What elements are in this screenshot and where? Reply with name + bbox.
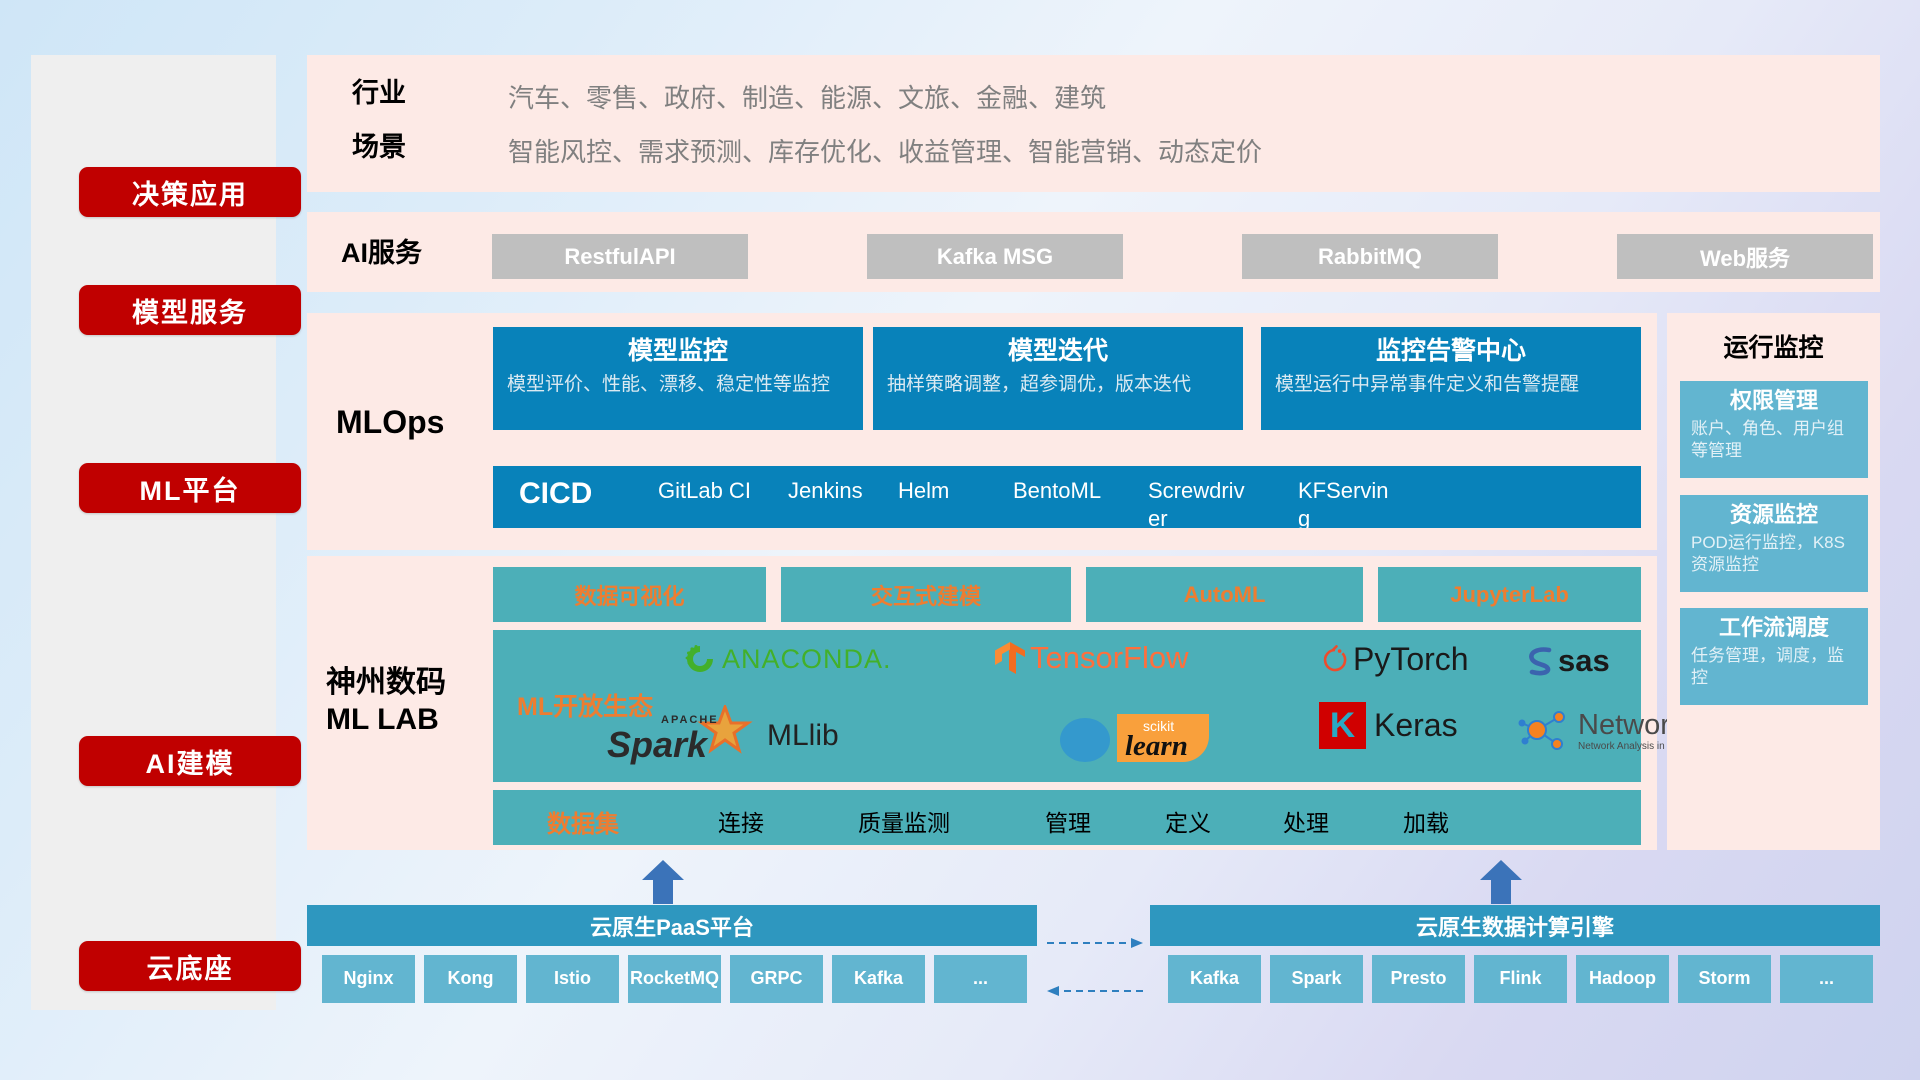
tile-interactive-modeling[interactable]: 交互式建模 — [781, 567, 1071, 622]
paas-title: 云原生PaaS平台 — [590, 910, 754, 942]
chip-label: GRPC — [750, 969, 802, 989]
chip-label: Kafka — [854, 969, 903, 989]
chip-label: ... — [973, 969, 988, 989]
keras-wordmark: Keras — [1374, 707, 1458, 744]
industry-label: 行业 — [352, 78, 406, 109]
chip-label: Storm — [1698, 969, 1750, 989]
sas-wordmark: sas — [1558, 643, 1610, 679]
scene-label: 场景 — [352, 132, 406, 163]
card-desc: 模型评价、性能、漂移、稳定性等监控 — [507, 372, 849, 397]
modeling-tile-row: 数据可视化 交互式建模 AutoML JupyterLab — [493, 567, 1641, 622]
run-monitor-panel: 运行监控 权限管理 账户、角色、用户组等管理 资源监控 POD运行监控，K8S资… — [1667, 313, 1880, 850]
paas-chip-more[interactable]: ... — [934, 955, 1027, 1003]
monitor-card-permission[interactable]: 权限管理 账户、角色、用户组等管理 — [1680, 381, 1868, 478]
chip-label: Kong — [448, 969, 494, 989]
service-chip-web-service[interactable]: Web服务 — [1617, 234, 1873, 279]
ml-lab-line2: ML LAB — [326, 702, 446, 739]
paas-chip-kafka[interactable]: Kafka — [832, 955, 925, 1003]
chip-label: Istio — [554, 969, 591, 989]
scene-value: 智能风控、需求预测、库存优化、收益管理、智能营销、动态定价 — [508, 132, 1262, 169]
tile-label: 交互式建模 — [871, 579, 981, 611]
engine-chip-storm[interactable]: Storm — [1678, 955, 1771, 1003]
monitor-card-workflow[interactable]: 工作流调度 任务管理，调度，监控 — [1680, 608, 1868, 705]
paas-chip-nginx[interactable]: Nginx — [322, 955, 415, 1003]
arrow-up-engine-icon — [1478, 858, 1524, 904]
dataset-item-manage[interactable]: 管理 — [1045, 804, 1091, 838]
paas-chip-istio[interactable]: Istio — [526, 955, 619, 1003]
engine-chip-spark[interactable]: Spark — [1270, 955, 1363, 1003]
spark-icon: APACHE Spark — [603, 705, 763, 767]
rail-item-cloud-base[interactable]: 云底座 — [79, 941, 301, 991]
chip-label: Web服务 — [1700, 241, 1790, 273]
dataset-bar: 数据集 连接 质量监测 管理 定义 处理 加载 — [493, 790, 1641, 845]
run-monitor-title: 运行监控 — [1667, 328, 1880, 364]
industry-value: 汽车、零售、政府、制造、能源、文旅、金融、建筑 — [508, 78, 1106, 115]
left-rail: 决策应用 模型服务 ML平台 AI建模 — [31, 55, 276, 1010]
chip-label: Kafka — [1190, 969, 1239, 989]
chip-label: Hadoop — [1589, 969, 1656, 989]
card-title: 资源监控 — [1691, 502, 1857, 528]
card-title: 工作流调度 — [1691, 615, 1857, 641]
pytorch-wordmark: PyTorch — [1353, 641, 1469, 678]
mllib-wordmark: MLlib — [767, 719, 839, 753]
dataset-item-connect[interactable]: 连接 — [718, 804, 764, 838]
tile-jupyterlab[interactable]: JupyterLab — [1378, 567, 1641, 622]
cicd-title: CICD — [519, 477, 592, 511]
mlops-label: MLOps — [336, 404, 444, 441]
rail-label: ML平台 — [140, 469, 241, 508]
sas-icon — [1523, 646, 1557, 676]
engine-chip-presto[interactable]: Presto — [1372, 955, 1465, 1003]
scikit-learn-logo: scikit learn — [1059, 706, 1224, 768]
diagram-canvas: 决策应用 模型服务 ML平台 AI建模 云底座 行业 汽车、零售、政府、制造、能… — [0, 0, 1920, 1080]
engine-chip-flink[interactable]: Flink — [1474, 955, 1567, 1003]
paas-platform-bar: 云原生PaaS平台 — [307, 905, 1037, 946]
svg-text:Spark: Spark — [607, 724, 709, 765]
rail-label: AI建模 — [146, 742, 235, 781]
mlops-card-model-iteration[interactable]: 模型迭代 抽样策略调整，超参调优，版本迭代 — [873, 327, 1243, 430]
card-desc: 账户、角色、用户组等管理 — [1691, 418, 1857, 462]
dataset-title: 数据集 — [547, 804, 619, 839]
paas-chip-kong[interactable]: Kong — [424, 955, 517, 1003]
tensorflow-icon — [993, 640, 1027, 676]
cicd-item-jenkins[interactable]: Jenkins — [788, 477, 888, 505]
chip-label: RocketMQ — [630, 969, 719, 989]
chip-label: Flink — [1499, 969, 1541, 989]
pytorch-logo: PyTorch — [1321, 641, 1469, 678]
chip-label: Spark — [1291, 969, 1341, 989]
card-title: 模型迭代 — [887, 336, 1229, 367]
monitor-card-resource[interactable]: 资源监控 POD运行监控，K8S资源监控 — [1680, 495, 1868, 592]
cicd-item-helm[interactable]: Helm — [898, 477, 998, 505]
spark-mllib-logo: APACHE Spark MLlib — [603, 705, 839, 767]
engine-chip-kafka[interactable]: Kafka — [1168, 955, 1261, 1003]
paas-chip-grpc[interactable]: GRPC — [730, 955, 823, 1003]
tensorflow-logo: TensorFlow — [993, 640, 1189, 676]
engine-chip-hadoop[interactable]: Hadoop — [1576, 955, 1669, 1003]
svg-text:learn: learn — [1125, 730, 1188, 762]
rail-item-ai-modeling[interactable]: AI建模 — [79, 736, 301, 786]
tile-data-visualization[interactable]: 数据可视化 — [493, 567, 766, 622]
ml-ecosystem-box: ML开放生态 ANACONDA. TensorFlow — [493, 630, 1641, 782]
tile-label: 数据可视化 — [574, 579, 684, 611]
cicd-item-bentoml[interactable]: BentoML — [1013, 477, 1113, 505]
chip-label: RabbitMQ — [1318, 244, 1422, 270]
rail-item-model-service[interactable]: 模型服务 — [79, 285, 301, 335]
keras-mark: K — [1319, 702, 1366, 749]
rail-item-decision-app[interactable]: 决策应用 — [79, 167, 301, 217]
service-chip-rabbitmq[interactable]: RabbitMQ — [1242, 234, 1498, 279]
card-desc: 抽样策略调整，超参调优，版本迭代 — [887, 372, 1229, 397]
dataset-item-load[interactable]: 加载 — [1403, 804, 1449, 838]
pytorch-icon — [1321, 644, 1349, 676]
ml-lab-line1: 神州数码 — [326, 665, 446, 702]
anaconda-wordmark: ANACONDA. — [722, 644, 892, 675]
dataset-item-define[interactable]: 定义 — [1165, 804, 1211, 838]
tile-label: AutoML — [1184, 582, 1266, 608]
chip-label: Presto — [1390, 969, 1446, 989]
rail-label: 决策应用 — [132, 173, 248, 212]
mlops-card-alert-center[interactable]: 监控告警中心 模型运行中异常事件定义和告警提醒 — [1261, 327, 1641, 430]
tile-label: JupyterLab — [1450, 582, 1569, 608]
scikit-learn-icon: scikit learn — [1059, 706, 1224, 768]
rail-label: 云底座 — [147, 947, 234, 986]
rail-label: 模型服务 — [132, 291, 248, 330]
card-desc: 模型运行中异常事件定义和告警提醒 — [1275, 372, 1627, 397]
chip-label: Kafka MSG — [937, 244, 1053, 270]
card-title: 权限管理 — [1691, 388, 1857, 414]
dataset-item-process[interactable]: 处理 — [1283, 804, 1329, 838]
engine-chip-more[interactable]: ... — [1780, 955, 1873, 1003]
card-desc: POD运行监控，K8S资源监控 — [1691, 532, 1857, 576]
cicd-item-kfserving[interactable]: KFServing — [1298, 477, 1398, 528]
tensorflow-wordmark: TensorFlow — [1030, 640, 1189, 676]
chip-label: Nginx — [343, 969, 393, 989]
tile-automl[interactable]: AutoML — [1086, 567, 1363, 622]
rail-item-ml-platform[interactable]: ML平台 — [79, 463, 301, 513]
card-title: 监控告警中心 — [1275, 336, 1627, 367]
engine-title: 云原生数据计算引擎 — [1416, 910, 1614, 942]
card-title: 模型监控 — [507, 336, 849, 367]
anaconda-logo: ANACONDA. — [683, 642, 892, 676]
ml-lab-label: 神州数码 ML LAB — [326, 665, 446, 738]
chip-label: ... — [1819, 969, 1834, 989]
cicd-item-gitlab-ci[interactable]: GitLab CI — [658, 477, 758, 505]
sas-logo: sas — [1523, 643, 1610, 679]
dataset-item-quality-monitor[interactable]: 质量监测 — [858, 804, 950, 838]
industry-band — [307, 55, 1880, 192]
dashed-connector-icon — [1045, 935, 1145, 1005]
card-desc: 任务管理，调度，监控 — [1691, 645, 1857, 689]
networkx-icon — [1517, 708, 1573, 754]
chip-label: RestfulAPI — [564, 244, 675, 270]
arrow-up-paas-icon — [640, 858, 686, 904]
data-engine-bar: 云原生数据计算引擎 — [1150, 905, 1880, 946]
mlops-card-model-monitor[interactable]: 模型监控 模型评价、性能、漂移、稳定性等监控 — [493, 327, 863, 430]
service-chip-restfulapi[interactable]: RestfulAPI — [492, 234, 748, 279]
cicd-item-screwdriver[interactable]: Screwdriver — [1148, 477, 1248, 528]
paas-chip-rocketmq[interactable]: RocketMQ — [628, 955, 721, 1003]
service-chip-kafka-msg[interactable]: Kafka MSG — [867, 234, 1123, 279]
ai-service-label: AI服务 — [341, 238, 422, 269]
keras-logo: K Keras — [1319, 702, 1458, 749]
cicd-bar: CICD GitLab CI Jenkins Helm BentoML Scre… — [493, 466, 1641, 528]
anaconda-icon — [683, 642, 717, 676]
